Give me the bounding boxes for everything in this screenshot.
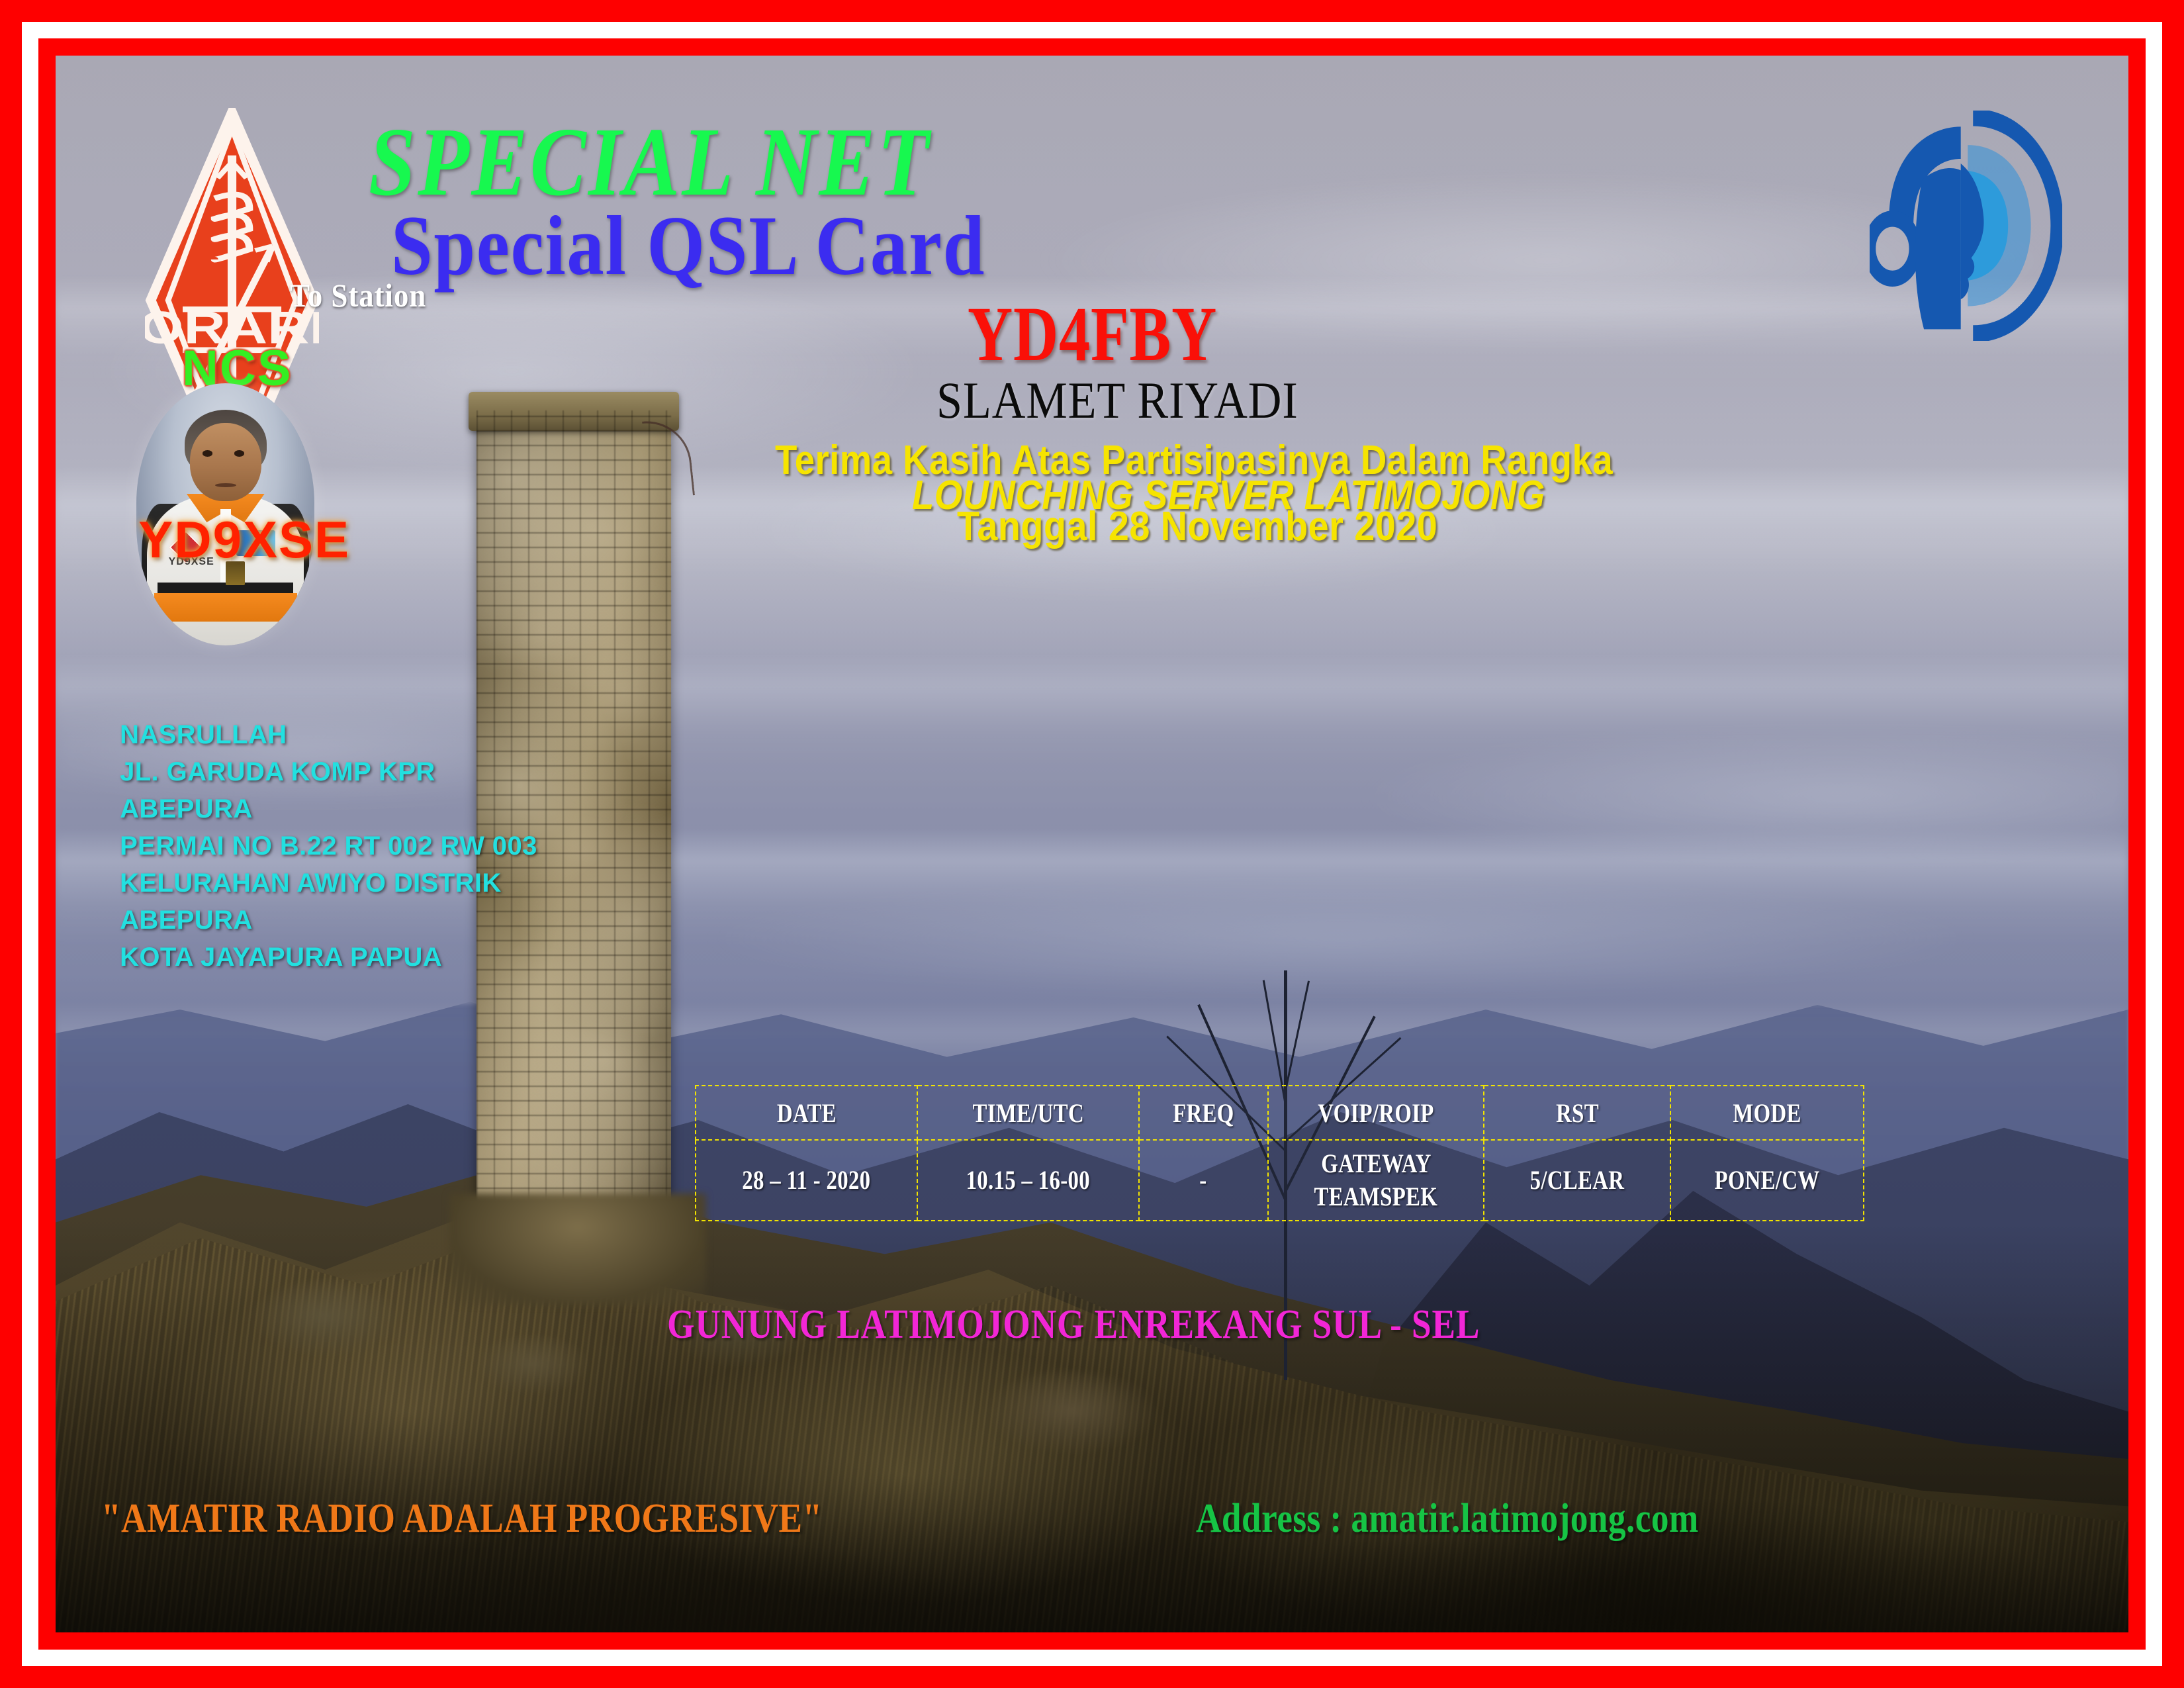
cell-mode: PONE/CW bbox=[1670, 1140, 1863, 1221]
address-line: KELURAHAN AWIYO DISTRIK bbox=[120, 865, 537, 902]
table-header-rst: RST bbox=[1484, 1086, 1670, 1140]
page-subtitle: Special QSL Card bbox=[391, 197, 985, 295]
footer-slogan: "AMATIR RADIO ADALAH PROGRESIVE" bbox=[101, 1495, 823, 1542]
mailing-address: NASRULLAH JL. GARUDA KOMP KPR ABEPURA PE… bbox=[120, 716, 537, 976]
ncs-callsign: YD9XSE bbox=[138, 510, 350, 570]
photo-face bbox=[190, 423, 261, 502]
cell-voip: GATEWAY TEAMSPEK bbox=[1268, 1140, 1484, 1221]
table-header-voip: VOIP/ROIP bbox=[1268, 1086, 1484, 1140]
address-line: ABEPURA bbox=[120, 790, 537, 827]
table-header-freq: FREQ bbox=[1139, 1086, 1268, 1140]
photo-eye-left bbox=[203, 450, 212, 456]
footer-web-address: Address : amatir.latimojong.com bbox=[1196, 1495, 1699, 1542]
address-line: KOTA JAYAPURA PAPUA bbox=[120, 939, 537, 976]
operator-name: SLAMET RIYADI bbox=[936, 371, 1298, 430]
net-headphone-logo bbox=[1870, 111, 2062, 341]
cell-time: 10.15 – 16-00 bbox=[917, 1140, 1139, 1221]
background-photograph: ORARI SPECIAL NET bbox=[56, 56, 2128, 1632]
address-line: NASRULLAH bbox=[120, 716, 537, 753]
to-station-label: To Station bbox=[290, 276, 426, 314]
cell-rst: 5/CLEAR bbox=[1484, 1140, 1670, 1221]
photo-eye-right bbox=[234, 450, 244, 456]
qsl-card: ORARI SPECIAL NET bbox=[0, 0, 2184, 1688]
address-line: PERMAI NO B.22 RT 002 RW 003 bbox=[120, 827, 537, 865]
thanks-line-3: Tanggal 28 November 2020 bbox=[957, 503, 1437, 550]
cell-freq: - bbox=[1139, 1140, 1268, 1221]
address-line: ABEPURA bbox=[120, 902, 537, 939]
table-header-date: DATE bbox=[696, 1086, 917, 1140]
station-callsign: YD4FBY bbox=[968, 289, 1217, 379]
photo-uniform-sash bbox=[154, 593, 296, 622]
address-line: JL. GARUDA KOMP KPR bbox=[120, 753, 537, 790]
qso-log-table: DATE TIME/UTC FREQ VOIP/ROIP RST MODE 28… bbox=[695, 1085, 1864, 1221]
table-header-mode: MODE bbox=[1670, 1086, 1863, 1140]
table-row: 28 – 11 - 2020 10.15 – 16-00 - GATEWAY T… bbox=[696, 1140, 1863, 1221]
table-header-row: DATE TIME/UTC FREQ VOIP/ROIP RST MODE bbox=[696, 1086, 1863, 1140]
table-header-time: TIME/UTC bbox=[917, 1086, 1139, 1140]
cell-date: 28 – 11 - 2020 bbox=[696, 1140, 917, 1221]
photo-mouth bbox=[215, 483, 236, 487]
location-caption: GUNUNG LATIMOJONG ENREKANG SUL - SEL bbox=[667, 1301, 1480, 1348]
